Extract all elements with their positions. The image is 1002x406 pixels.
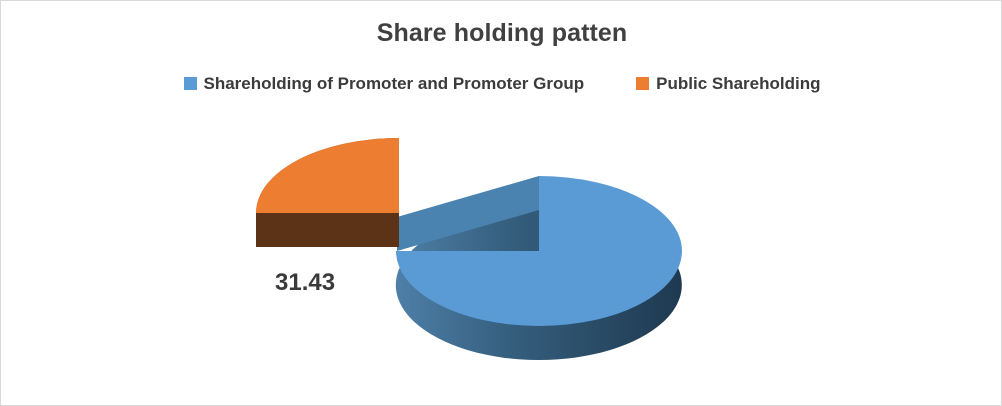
pie-3d-svg xyxy=(1,105,1002,405)
legend-swatch-orange-icon xyxy=(636,77,649,90)
pie-chart-container: Share holding patten Shareholding of Pro… xyxy=(0,0,1002,406)
data-label-public: 31.43 xyxy=(275,269,335,297)
pie-plot-area: 31.43 68.57 xyxy=(1,105,1002,405)
legend-label-promoter: Shareholding of Promoter and Promoter Gr… xyxy=(204,75,585,92)
legend-swatch-blue-icon xyxy=(184,77,197,90)
pie-slice-public[interactable] xyxy=(256,138,399,247)
legend-label-public: Public Shareholding xyxy=(656,75,820,92)
legend-item-public[interactable]: Public Shareholding xyxy=(636,75,820,92)
pie-slice-promoter-top xyxy=(396,176,682,326)
legend-item-promoter[interactable]: Shareholding of Promoter and Promoter Gr… xyxy=(184,75,585,92)
pie-slice-promoter[interactable] xyxy=(396,176,682,360)
chart-title: Share holding patten xyxy=(1,19,1002,48)
pie-slice-public-top xyxy=(256,138,399,213)
chart-legend: Shareholding of Promoter and Promoter Gr… xyxy=(1,75,1002,92)
pie-slice-public-cut-wall xyxy=(256,213,399,247)
